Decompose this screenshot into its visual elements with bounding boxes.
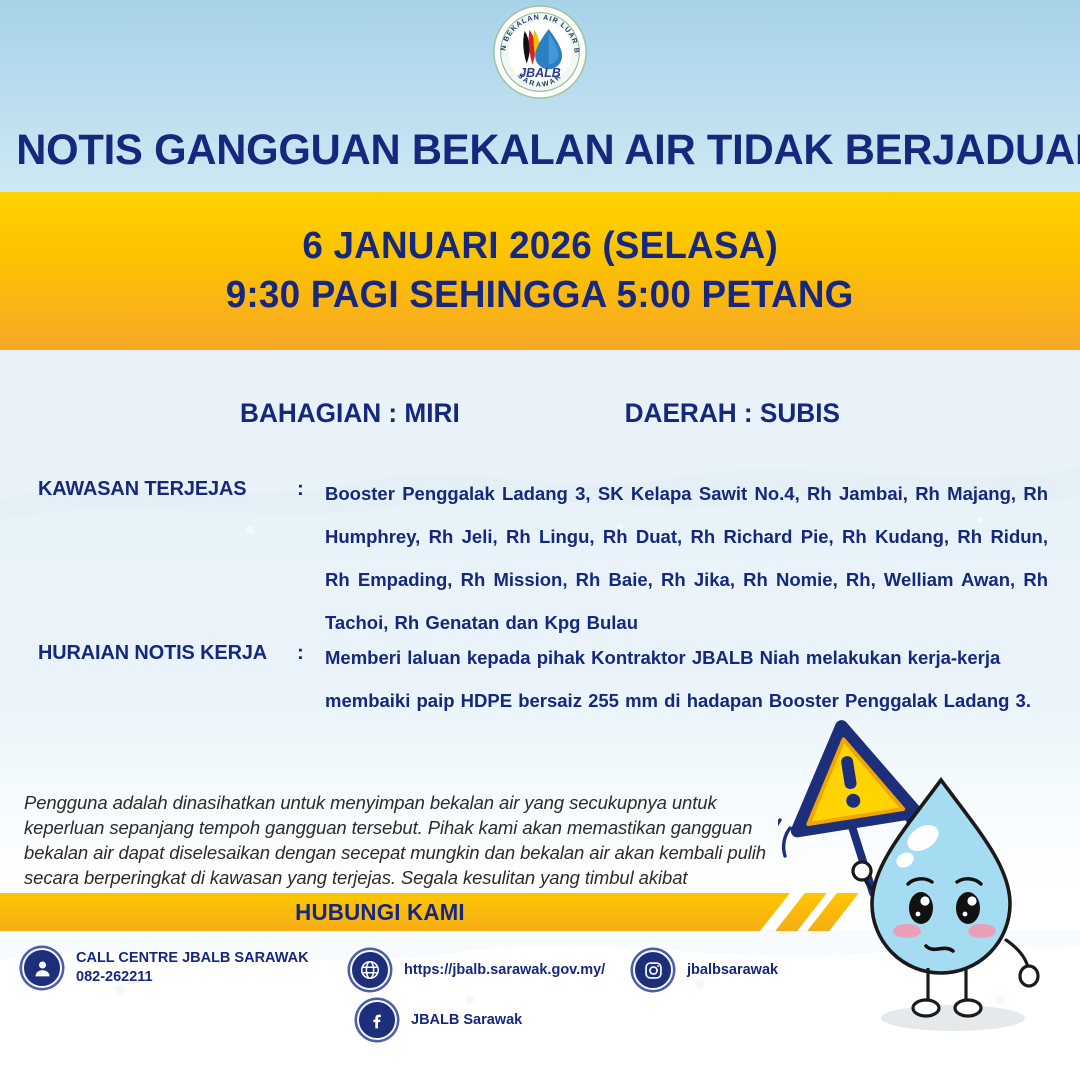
affected-areas-value: Booster Penggalak Ladang 3, SK Kelapa Sa… bbox=[325, 472, 1048, 644]
notice-poster: JABATAN BEKALAN AIR LUAR BANDAR SARAWAK … bbox=[0, 0, 1080, 1080]
svg-text:JBALB: JBALB bbox=[519, 66, 561, 80]
poster-header: JABATAN BEKALAN AIR LUAR BANDAR SARAWAK … bbox=[0, 0, 1080, 192]
region-row: BAHAGIAN : MIRI DAERAH : SUBIS bbox=[16, 398, 1064, 429]
call-centre-name: CALL CENTRE JBALB SARAWAK bbox=[76, 949, 309, 968]
person-icon bbox=[22, 948, 62, 988]
contact-website[interactable]: https://jbalb.sarawak.gov.my/ bbox=[350, 950, 605, 990]
jbalb-logo-icon: JABATAN BEKALAN AIR LUAR BANDAR SARAWAK … bbox=[492, 4, 588, 100]
affected-areas-colon: : bbox=[297, 472, 325, 644]
water-droplet-mascot-icon bbox=[778, 718, 1080, 1058]
call-centre-phone: 082-262211 bbox=[76, 968, 309, 987]
affected-areas-row: KAWASAN TERJEJAS : Booster Penggalak Lad… bbox=[38, 472, 1048, 644]
contact-facebook[interactable]: JBALB Sarawak bbox=[357, 1000, 522, 1040]
district-label: DAERAH : SUBIS bbox=[625, 398, 840, 429]
affected-areas-label: KAWASAN TERJEJAS bbox=[38, 472, 289, 644]
notice-time: 9:30 PAGI SEHINGGA 5:00 PETANG bbox=[226, 274, 854, 317]
work-description-label: HURAIAN NOTIS KERJA bbox=[38, 636, 289, 722]
contact-banner-label: HUBUNGI KAMI bbox=[11, 899, 748, 926]
work-description-row: HURAIAN NOTIS KERJA : Memberi laluan kep… bbox=[38, 636, 1048, 722]
work-description-colon: : bbox=[297, 636, 325, 722]
contact-instagram[interactable]: jbalbsarawak bbox=[633, 950, 778, 990]
facebook-handle[interactable]: JBALB Sarawak bbox=[411, 1011, 522, 1030]
instagram-icon bbox=[633, 950, 673, 990]
poster-title: NOTIS GANGGUAN BEKALAN AIR TIDAK BERJADU… bbox=[16, 126, 1064, 175]
division-label: BAHAGIAN : MIRI bbox=[240, 398, 460, 429]
contact-call-centre[interactable]: CALL CENTRE JBALB SARAWAK 082-262211 bbox=[22, 948, 309, 988]
website-url[interactable]: https://jbalb.sarawak.gov.my/ bbox=[404, 961, 605, 980]
notice-date: 6 JANUARI 2026 (SELASA) bbox=[302, 225, 778, 268]
date-time-band: 6 JANUARI 2026 (SELASA) 9:30 PAGI SEHING… bbox=[0, 192, 1080, 350]
instagram-handle[interactable]: jbalbsarawak bbox=[687, 961, 778, 980]
facebook-icon bbox=[357, 1000, 397, 1040]
globe-icon bbox=[350, 950, 390, 990]
work-description-value: Memberi laluan kepada pihak Kontraktor J… bbox=[325, 636, 1048, 722]
